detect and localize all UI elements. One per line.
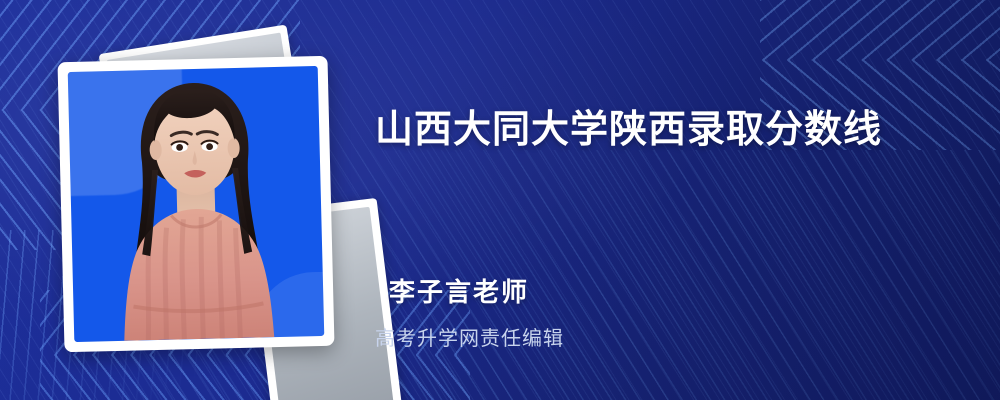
banner-root: 山西大同大学陕西录取分数线 李子言老师 高考升学网责任编辑 <box>0 0 1000 400</box>
id-photo <box>68 66 325 342</box>
portrait-illustration <box>68 66 325 342</box>
author-name: 李子言老师 <box>389 272 529 309</box>
photo-stack <box>55 35 355 365</box>
page-title: 山西大同大学陕西录取分数线 <box>375 98 882 153</box>
text-block: 山西大同大学陕西录取分数线 李子言老师 高考升学网责任编辑 <box>375 0 975 400</box>
main-photo-card <box>57 56 334 353</box>
author-role: 高考升学网责任编辑 <box>375 322 564 351</box>
